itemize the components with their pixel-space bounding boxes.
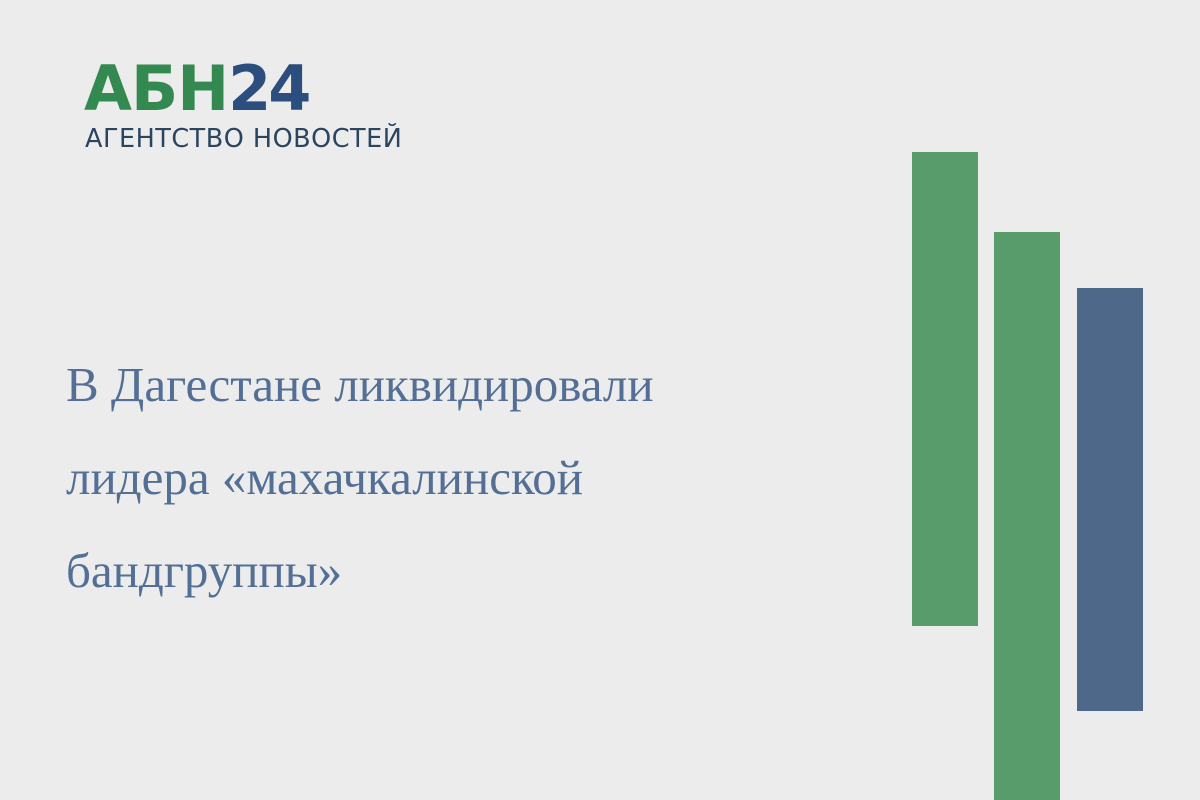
headline-line-3: бандгруппы» [66, 524, 876, 617]
logo-brand-accent-text: 24 [228, 52, 308, 125]
news-card: АБН24 АГЕНТСТВО НОВОСТЕЙ В Дагестане лик… [0, 0, 1200, 800]
decorative-bar-short-blue [1077, 288, 1143, 711]
decorative-bar-tall-green [912, 152, 978, 626]
decorative-bar-middle-green [994, 232, 1060, 800]
logo-wordmark: АБН24 [84, 58, 384, 120]
headline-line-2: лидера «махачкалинской [66, 431, 876, 524]
logo-brand-text: АБН [84, 52, 228, 125]
logo-tagline: АГЕНТСТВО НОВОСТЕЙ [85, 125, 384, 153]
headline-line-1: В Дагестане ликвидировали [66, 338, 876, 431]
logo[interactable]: АБН24 АГЕНТСТВО НОВОСТЕЙ [84, 58, 384, 153]
page-title: В Дагестане ликвидировали лидера «махачк… [66, 338, 876, 617]
